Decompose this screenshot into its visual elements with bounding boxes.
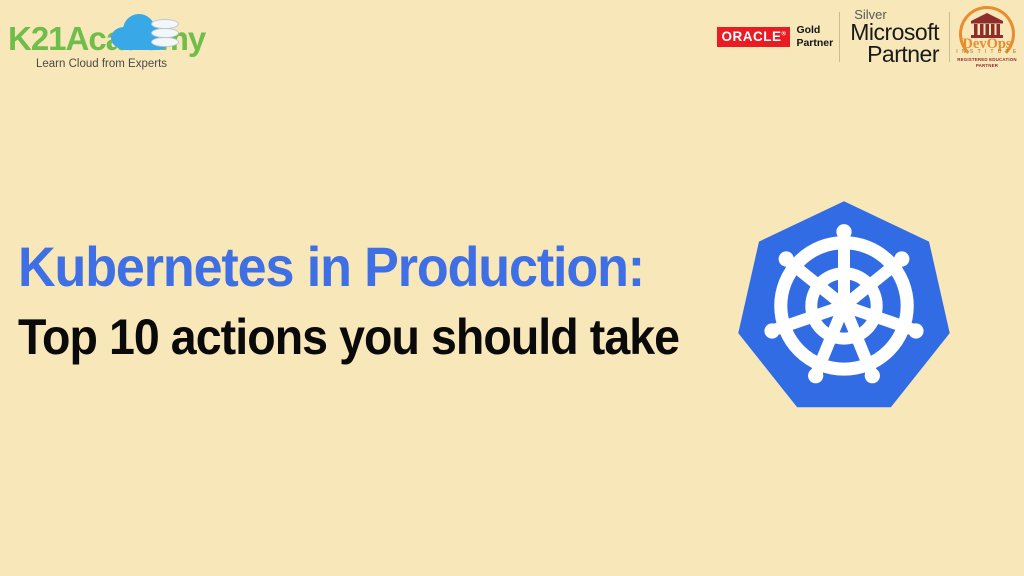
- kubernetes-logo: [735, 198, 953, 416]
- devops-registered-line2: PARTNER: [956, 63, 1018, 69]
- headline-block: Kubernetes in Production: Top 10 actions…: [18, 238, 718, 363]
- cloud-database-icon: [109, 10, 181, 54]
- oracle-logo: ORACLE®: [717, 27, 791, 47]
- brand-logo[interactable]: K21Academy Learn Cloud from Experts: [6, 8, 206, 74]
- kubernetes-helm-icon: [735, 198, 953, 416]
- database-disc-bottom: [151, 37, 179, 47]
- headline-primary: Kubernetes in Production:: [18, 238, 669, 297]
- oracle-tier-label: Gold: [796, 24, 833, 37]
- devops-institute-badge: DevOps I N S T I T U T E REGISTERED EDUC…: [950, 9, 1024, 65]
- oracle-trademark-icon: ®: [782, 32, 787, 38]
- headline-secondary: Top 10 actions you should take: [18, 311, 669, 364]
- partner-badges: ORACLE® Gold Partner Silver Microsoft Pa…: [711, 2, 1024, 72]
- slide-canvas: K21Academy Learn Cloud from Experts ORAC…: [0, 0, 1024, 576]
- microsoft-name-label: Microsoft: [850, 22, 939, 44]
- oracle-role-label: Partner: [796, 37, 833, 50]
- oracle-partner-level: Gold Partner: [796, 24, 833, 50]
- brand-tagline: Learn Cloud from Experts: [36, 58, 167, 70]
- database-stack-icon: [151, 19, 179, 49]
- oracle-logo-text: ORACLE: [722, 29, 782, 44]
- oracle-partner-badge: ORACLE® Gold Partner: [711, 9, 840, 65]
- microsoft-partner-badge: Silver Microsoft Partner: [840, 9, 949, 65]
- devops-institute-label: I N S T I T U T E: [956, 50, 1018, 55]
- microsoft-role-label: Partner: [867, 43, 939, 66]
- devops-registered-label: REGISTERED EDUCATION PARTNER: [956, 57, 1018, 68]
- devops-registered-line1: REGISTERED EDUCATION: [956, 57, 1018, 63]
